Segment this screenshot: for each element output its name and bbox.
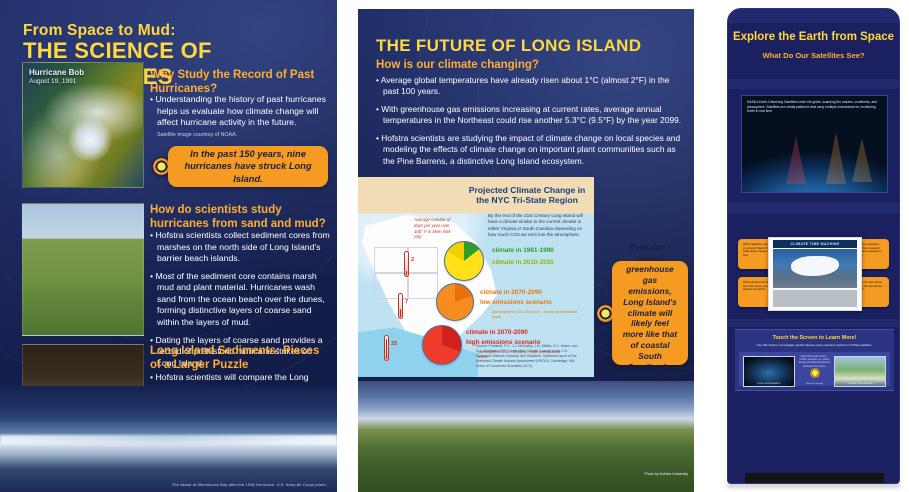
touch-instructions-panel: Touch the Screen to Learn More! Use this… <box>735 329 894 391</box>
days-value-high-emissions: 25 <box>391 341 397 347</box>
info-tag-2-text: Which would show sea level rise along Lo… <box>743 281 770 291</box>
legend-climate-2070-2090-high: climate in 2070-2090 <box>466 329 528 336</box>
kiosk-cabinet: Explore the Earth from Space What Do Our… <box>727 8 900 484</box>
satellite-beam <box>786 136 806 184</box>
middle-page-title: THE FUTURE OF LONG ISLAND <box>376 36 641 56</box>
panel-left-hurricanes: From Space to Mud: THE SCIENCE OF HURRIC… <box>0 0 337 492</box>
kiosk-band-divider <box>728 203 899 213</box>
section-heading-how-scientists-study: How do scientists study hurricanes from … <box>150 203 330 231</box>
bullet-item: Hofstra scientists are studying the impa… <box>376 133 682 166</box>
screen-footer-bar <box>773 290 857 307</box>
days-value-low-emissions: 7 <box>405 299 408 305</box>
thermometer-axis-label: Average number of days per year over 100… <box>414 217 458 240</box>
touch-screen-title: Touch the Screen to Learn More! <box>735 335 894 341</box>
thermometer-icon <box>398 293 403 319</box>
section-heading-why-study: Why Study the Record of Past Hurricanes? <box>150 68 330 96</box>
thermometer-icon <box>384 335 389 361</box>
callout-south-carolina: If we don't reduce greenhouse gas emissi… <box>612 261 688 365</box>
middle-body-bullets: Average global temperatures have already… <box>376 75 682 174</box>
bullet-item: Understanding the history of past hurric… <box>150 94 330 129</box>
chart-title: Projected Climate Change in the NYC Tri-… <box>466 185 588 206</box>
kiosk-base <box>745 473 884 484</box>
bullet-item: Hofstra scientists collect sediment core… <box>150 230 332 265</box>
section-body-why-study: Understanding the history of past hurric… <box>150 94 330 139</box>
photo-credit-noaa: Satellite image courtesy of NOAA. <box>150 132 330 139</box>
legend-low-emissions-scenario: low emissions scenario <box>480 299 552 306</box>
touch-screen-thumbnails: EYES ON THE EARTH CLIMATE TIME MACHINE E… <box>739 352 890 386</box>
middle-subheading: How is our climate changing? <box>376 59 539 71</box>
hofstra-seal-icon <box>810 368 820 378</box>
kiosk-band-divider <box>728 79 899 89</box>
kiosk-band-top <box>728 9 899 23</box>
bullet-item: Average global temperatures have already… <box>376 75 682 97</box>
pie-slice-1961-1990 <box>444 241 484 281</box>
chart-source-citation: Source: Frumhoff, P.C., J.J. McCarthy, J… <box>476 344 582 369</box>
legend-low-emissions-sub: (atmospheric CO2 550 ppm - double preind… <box>492 309 578 319</box>
pine-barrens-credit: Photo by Hofstra University <box>644 472 688 476</box>
legend-climate-2070-2090-low: climate in 2070-2090 <box>480 289 542 296</box>
days-value-1961-1990: 2 <box>411 257 414 263</box>
legend-climate-2010-2020: climate in 2010-2020 <box>492 259 554 266</box>
section-heading-long-island-sediments: Long Island Sediments: Pieces of a Large… <box>150 344 330 372</box>
aerial-photo-credit: The Island at Shinnecock Bay after the 1… <box>172 482 327 487</box>
poster-caption: NASA's Earth-Observing Satellites circle… <box>747 100 882 114</box>
bullet-item: With greenhouse gas emissions increasing… <box>376 104 682 126</box>
screen-header-label: CLIMATE TIME MACHINE <box>773 240 857 248</box>
aerial-barrier-island-photo: The Island at Shinnecock Bay after the 1… <box>0 386 337 492</box>
screen-map-display[interactable] <box>773 249 857 288</box>
pine-barrens-photo: Photo by Hofstra University <box>358 381 694 492</box>
hurricane-photo-date: August 19, 1991 <box>29 78 76 85</box>
projected-climate-chart: Projected Climate Change in the NYC Tri-… <box>358 177 594 377</box>
kiosk-touchscreen[interactable]: CLIMATE TIME MACHINE <box>768 237 862 311</box>
marsh-coring-photo <box>22 203 144 336</box>
exhibit-stage: From Space to Mud: THE SCIENCE OF HURRIC… <box>0 0 909 492</box>
pie-slice-high-emissions <box>422 325 462 365</box>
hurricane-photo-caption: Hurricane Bob August 19, 1991 <box>29 68 84 86</box>
touch-screen-subtitle: Use this kiosk to investigate global cli… <box>745 343 884 347</box>
kiosk-title: Explore the Earth from Space <box>728 31 899 43</box>
kiosk-band-divider <box>728 319 899 327</box>
hurricane-photo-label: Hurricane Bob <box>29 68 84 78</box>
bullet-item: Most of the sediment core contains marsh… <box>150 271 332 329</box>
hurricane-bob-photo: Hurricane Bob August 19, 1991 <box>22 62 144 188</box>
chart-description: By the end of the 21st Century Long Isla… <box>488 213 588 238</box>
callout-south-carolina-wrapper: If we don't reduce greenhouse gas emissi… <box>612 261 688 365</box>
legend-climate-1961-1990: climate in 1961-1990 <box>492 247 554 254</box>
callout-150-years: In the past 150 years, nine hurricanes h… <box>168 146 328 187</box>
map-state-line <box>374 247 408 273</box>
kiosk-subtitle: What Do Our Satellites See? <box>728 51 899 60</box>
nasa-satellites-poster: NASA's Earth-Observing Satellites circle… <box>741 95 888 193</box>
map-state-line <box>408 273 438 299</box>
thermometer-icon <box>404 251 409 277</box>
satellite-beam <box>852 138 872 182</box>
satellite-beam <box>826 132 846 184</box>
pie-slice-low-emissions <box>436 283 474 321</box>
kiosk-exhibit[interactable]: Explore the Earth from Space What Do Our… <box>727 8 900 484</box>
panel-middle-future: THE FUTURE OF LONG ISLAND How is our cli… <box>358 9 694 492</box>
touch-links-text: Earth Observation Data — monitor sea lev… <box>797 356 832 369</box>
seal-caption: Hofstra University <box>739 383 890 385</box>
